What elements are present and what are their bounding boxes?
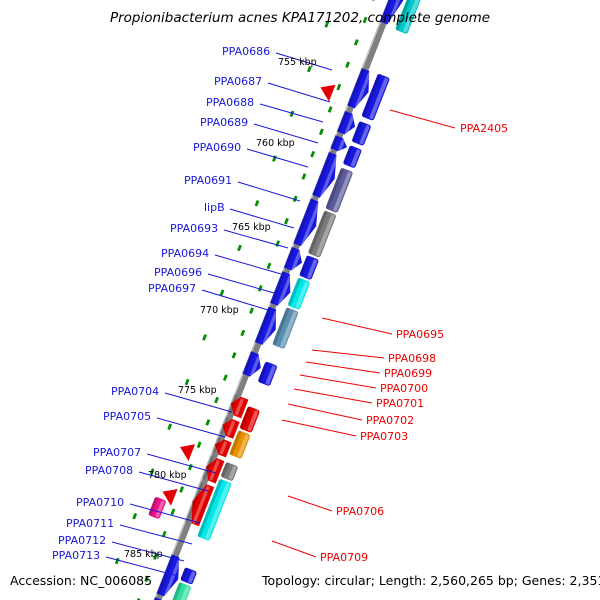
tick-dash-outer xyxy=(237,245,242,252)
feature-gray-0700[interactable] xyxy=(220,462,238,482)
tick-dash-inner xyxy=(345,61,350,68)
gene-label-leader xyxy=(322,318,392,334)
gene-label-ppa0705[interactable]: PPA0705 xyxy=(103,410,151,423)
gene-label-ppa0686[interactable]: PPA0686 xyxy=(222,45,270,58)
arrow-ppa0706[interactable] xyxy=(176,440,195,461)
scale-tick-label: 770 kbp xyxy=(200,305,239,316)
gene-label-leader xyxy=(260,104,323,122)
gene-label-ppa0694[interactable]: PPA0694 xyxy=(161,247,209,260)
gene-label-ppa0710[interactable]: PPA0710 xyxy=(76,496,124,509)
gene-label-leader xyxy=(312,350,384,358)
tick-dash-inner xyxy=(328,106,333,113)
gene-label-ppa0706[interactable]: PPA0706 xyxy=(336,505,384,518)
tick-dash-inner xyxy=(223,374,228,381)
gene-label-ppa0687[interactable]: PPA0687 xyxy=(214,75,262,88)
gene-label-ppa0691[interactable]: PPA0691 xyxy=(184,174,232,187)
gene-label-lipb[interactable]: lipB xyxy=(204,201,225,214)
gene-label-ppa0712[interactable]: PPA0712 xyxy=(58,534,106,547)
tick-dash-outer xyxy=(132,513,137,520)
gene-label-leader xyxy=(208,274,274,293)
scale-tick-label: 755 kbp xyxy=(278,57,317,68)
gene-label-ppa0688[interactable]: PPA0688 xyxy=(206,96,254,109)
tick-dash-inner xyxy=(205,419,210,426)
feature-blue-0689[interactable] xyxy=(343,145,362,168)
tick-dash-outer xyxy=(115,558,120,565)
gene-label-ppa2405[interactable]: PPA2405 xyxy=(460,122,508,135)
gene-label-leader xyxy=(272,541,316,557)
tick-dash-outer xyxy=(167,424,172,431)
feature-blue-0697[interactable] xyxy=(258,361,278,386)
tick-dash-outer xyxy=(255,200,260,207)
gene-label-ppa0709[interactable]: PPA0709 xyxy=(320,551,368,564)
tick-dash-inner xyxy=(249,307,254,314)
tick-dash-outer xyxy=(220,289,225,296)
tick-dash-inner xyxy=(232,352,237,359)
tick-dash-inner xyxy=(240,330,245,337)
gene-label-ppa0707[interactable]: PPA0707 xyxy=(93,446,141,459)
gene-label-leader xyxy=(247,149,308,167)
gene-label-leader xyxy=(215,255,281,274)
feature-cyan-0693[interactable] xyxy=(287,277,310,310)
tick-dash-inner xyxy=(319,128,324,135)
genome-stats-text: Topology: circular; Length: 2,560,265 bp… xyxy=(261,573,600,588)
gene-label-leader xyxy=(288,496,332,511)
scale-tick-label: 780 kbp xyxy=(148,470,187,481)
gene-label-ppa0713[interactable]: PPA0713 xyxy=(52,549,100,562)
gene-label-ppa0702[interactable]: PPA0702 xyxy=(366,414,414,427)
gene-label-leader xyxy=(268,83,330,102)
gene-label-ppa0690[interactable]: PPA0690 xyxy=(193,141,241,154)
scale-tick-label: 785 kbp xyxy=(124,549,163,560)
feature-spring-0705[interactable] xyxy=(172,582,191,600)
gene-label-leader xyxy=(294,389,372,403)
tick-dash-inner xyxy=(179,486,184,493)
tick-dash-inner xyxy=(214,397,219,404)
gene-label-ppa0693[interactable]: PPA0693 xyxy=(170,222,218,235)
scale-tick-label: 775 kbp xyxy=(178,385,217,396)
tick-dash-inner xyxy=(188,464,193,471)
gene-label-ppa0698[interactable]: PPA0698 xyxy=(388,352,436,365)
gene-label-ppa0699[interactable]: PPA0699 xyxy=(384,367,432,380)
gene-label-leader xyxy=(300,375,376,388)
gene-label-leader xyxy=(288,404,362,420)
feature-blue-0704[interactable] xyxy=(180,567,197,585)
tick-dash-inner xyxy=(197,441,202,448)
tick-dash-inner xyxy=(171,509,176,516)
gene-label-ppa0701[interactable]: PPA0701 xyxy=(376,397,424,410)
tick-dash-inner xyxy=(354,39,359,46)
gene-label-leader xyxy=(157,418,225,437)
gene-label-leader xyxy=(390,110,455,128)
gene-label-ppa0711[interactable]: PPA0711 xyxy=(66,517,114,530)
accession-text: Accession: NC_006085 xyxy=(10,573,152,588)
gene-label-leader xyxy=(282,420,356,436)
genome-map-viewer: PPA0686PPA0687PPA0688PPA0689PPA0690PPA06… xyxy=(0,0,600,600)
gene-label-ppa0700[interactable]: PPA0700 xyxy=(380,382,428,395)
gene-label-ppa0696[interactable]: PPA0696 xyxy=(154,266,202,279)
gene-label-ppa0704[interactable]: PPA0704 xyxy=(111,385,159,398)
arrow-ppa2405[interactable] xyxy=(317,80,336,101)
tick-dash-outer xyxy=(202,334,207,341)
tick-dash-inner xyxy=(284,218,289,225)
gene-label-ppa0708[interactable]: PPA0708 xyxy=(85,464,133,477)
gene-label-leader xyxy=(238,182,300,201)
tick-dash-inner xyxy=(336,84,341,91)
gene-label-leader xyxy=(306,362,380,373)
gene-label-ppa0689[interactable]: PPA0689 xyxy=(200,116,248,129)
feature-magenta-0709[interactable] xyxy=(148,496,166,519)
genome-map-canvas[interactable]: PPA0686PPA0687PPA0688PPA0689PPA0690PPA06… xyxy=(0,0,600,600)
tick-dash-inner xyxy=(310,151,315,158)
tick-dash-inner xyxy=(302,173,307,180)
scale-tick-label: 760 kbp xyxy=(256,138,295,149)
page-title: Propionibacterium acnes KPA171202, compl… xyxy=(110,10,490,26)
tick-dash-inner xyxy=(371,0,376,1)
gene-label-ppa0695[interactable]: PPA0695 xyxy=(396,328,444,341)
gene-label-ppa0697[interactable]: PPA0697 xyxy=(148,282,196,295)
gene-label-ppa0703[interactable]: PPA0703 xyxy=(360,430,408,443)
scale-tick-label: 765 kbp xyxy=(232,222,271,233)
feature-blue-lipB[interactable] xyxy=(299,255,319,280)
tick-dash-inner xyxy=(267,263,272,270)
